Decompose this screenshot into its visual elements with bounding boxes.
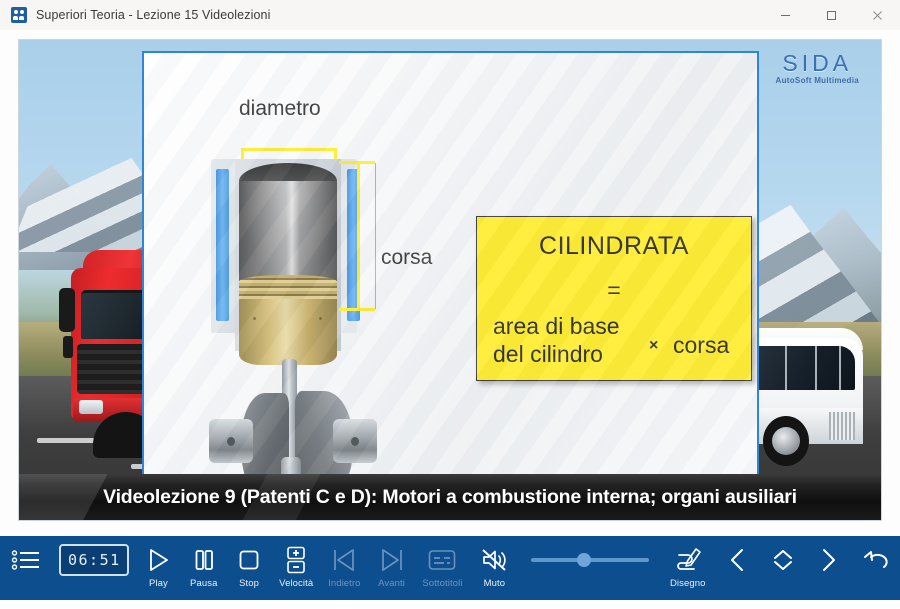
crank-journal-right (333, 419, 377, 463)
chevron-updown-icon (770, 545, 796, 575)
pause-label: Pausa (190, 578, 217, 589)
window-controls (762, 0, 900, 30)
draw-label: Disegno (670, 578, 706, 589)
formula-times: × (649, 337, 658, 355)
application-window: Superiori Teoria - Lezione 15 Videolezio… (0, 0, 900, 600)
stroke-guide-line (375, 163, 376, 309)
play-icon (145, 545, 171, 575)
lesson-content-panel: diametro (142, 51, 759, 476)
sida-logo-name: SIDA (776, 52, 859, 75)
next-button[interactable] (806, 536, 851, 609)
skip-back-icon (330, 545, 358, 575)
engine-cylinder-diagram: diametro (199, 101, 379, 451)
skip-forward-label: Avanti (378, 578, 405, 589)
playlist-icon (11, 545, 41, 575)
crank-journal-left (209, 419, 253, 463)
formula-equals: = (477, 277, 751, 304)
pen-icon (673, 545, 703, 575)
speed-label: Velocità (279, 578, 313, 589)
mute-button[interactable]: Muto (470, 536, 519, 609)
chevron-right-icon (816, 545, 840, 575)
mute-label: Muto (484, 578, 506, 589)
subtitles-button[interactable]: Sottotitoli (415, 536, 470, 609)
lesson-caption-bar: Videolezione 9 (Patenti C e D): Motori a… (19, 474, 881, 520)
piston-skirt (239, 299, 337, 365)
skip-back-label: Indietro (328, 578, 361, 589)
previous-button[interactable] (715, 536, 760, 609)
subtitles-label: Sottotitoli (422, 578, 462, 589)
diameter-measure-line (241, 148, 337, 151)
stroke-tick-bottom (339, 308, 375, 311)
playlist-button[interactable] (0, 536, 53, 609)
diameter-label: diametro (239, 97, 321, 121)
coolant-jacket-left (216, 169, 229, 321)
stop-button[interactable]: Stop (226, 536, 271, 609)
formula-box: CILINDRATA = area di base del cilindro ×… (476, 216, 752, 381)
speed-button[interactable]: Velocità (272, 536, 321, 609)
timer-display: 06:51 (53, 536, 136, 609)
mute-icon (480, 545, 508, 575)
skip-back-button[interactable]: Indietro (321, 536, 368, 609)
back-return-button[interactable] (851, 536, 900, 609)
title-bar: Superiori Teoria - Lezione 15 Videolezio… (0, 0, 900, 31)
minimize-button[interactable] (762, 0, 808, 30)
skip-forward-icon (378, 545, 406, 575)
stop-label: Stop (239, 578, 259, 589)
volume-slider-thumb[interactable] (577, 553, 591, 567)
piston-crown (239, 163, 337, 281)
lesson-caption-text: Videolezione 9 (Patenti C e D): Motori a… (103, 486, 797, 509)
skip-forward-button[interactable]: Avanti (368, 536, 415, 609)
formula-operand: corsa (673, 332, 729, 359)
speed-icon (284, 545, 308, 575)
stop-icon (236, 545, 262, 575)
chevron-left-icon (726, 545, 750, 575)
formula-line-2: del cilindro (493, 341, 603, 368)
volume-slider-control[interactable] (531, 545, 649, 575)
slide-canvas[interactable]: SIDA AutoSoft Multimedia diametro (18, 39, 882, 521)
timer-value: 06:51 (59, 544, 129, 576)
pause-icon (191, 545, 217, 575)
piston-rings (239, 275, 337, 301)
return-arrow-icon (860, 545, 890, 575)
play-label: Play (149, 578, 168, 589)
maximize-button[interactable] (808, 0, 854, 30)
stroke-tick-top (339, 161, 375, 164)
close-button[interactable] (854, 0, 900, 30)
sida-logo: SIDA AutoSoft Multimedia (776, 52, 859, 85)
draw-button[interactable]: Disegno (660, 536, 715, 609)
pause-button[interactable]: Pausa (181, 536, 226, 609)
window-title: Superiori Teoria - Lezione 15 Videolezio… (36, 8, 270, 22)
stroke-measure-line (357, 161, 360, 311)
volume-slider[interactable] (519, 536, 661, 609)
stroke-label: corsa (381, 246, 432, 270)
expand-button[interactable] (760, 536, 805, 609)
people-icon (11, 7, 27, 23)
formula-line-1: area di base (493, 313, 620, 340)
player-toolbar: 06:51 Play Pausa Stop (0, 536, 900, 600)
subtitles-icon (427, 545, 457, 575)
slide-frame: SIDA AutoSoft Multimedia diametro (0, 30, 900, 530)
play-button[interactable]: Play (136, 536, 181, 609)
sida-logo-tagline: AutoSoft Multimedia (776, 77, 859, 85)
formula-title: CILINDRATA (477, 232, 751, 261)
